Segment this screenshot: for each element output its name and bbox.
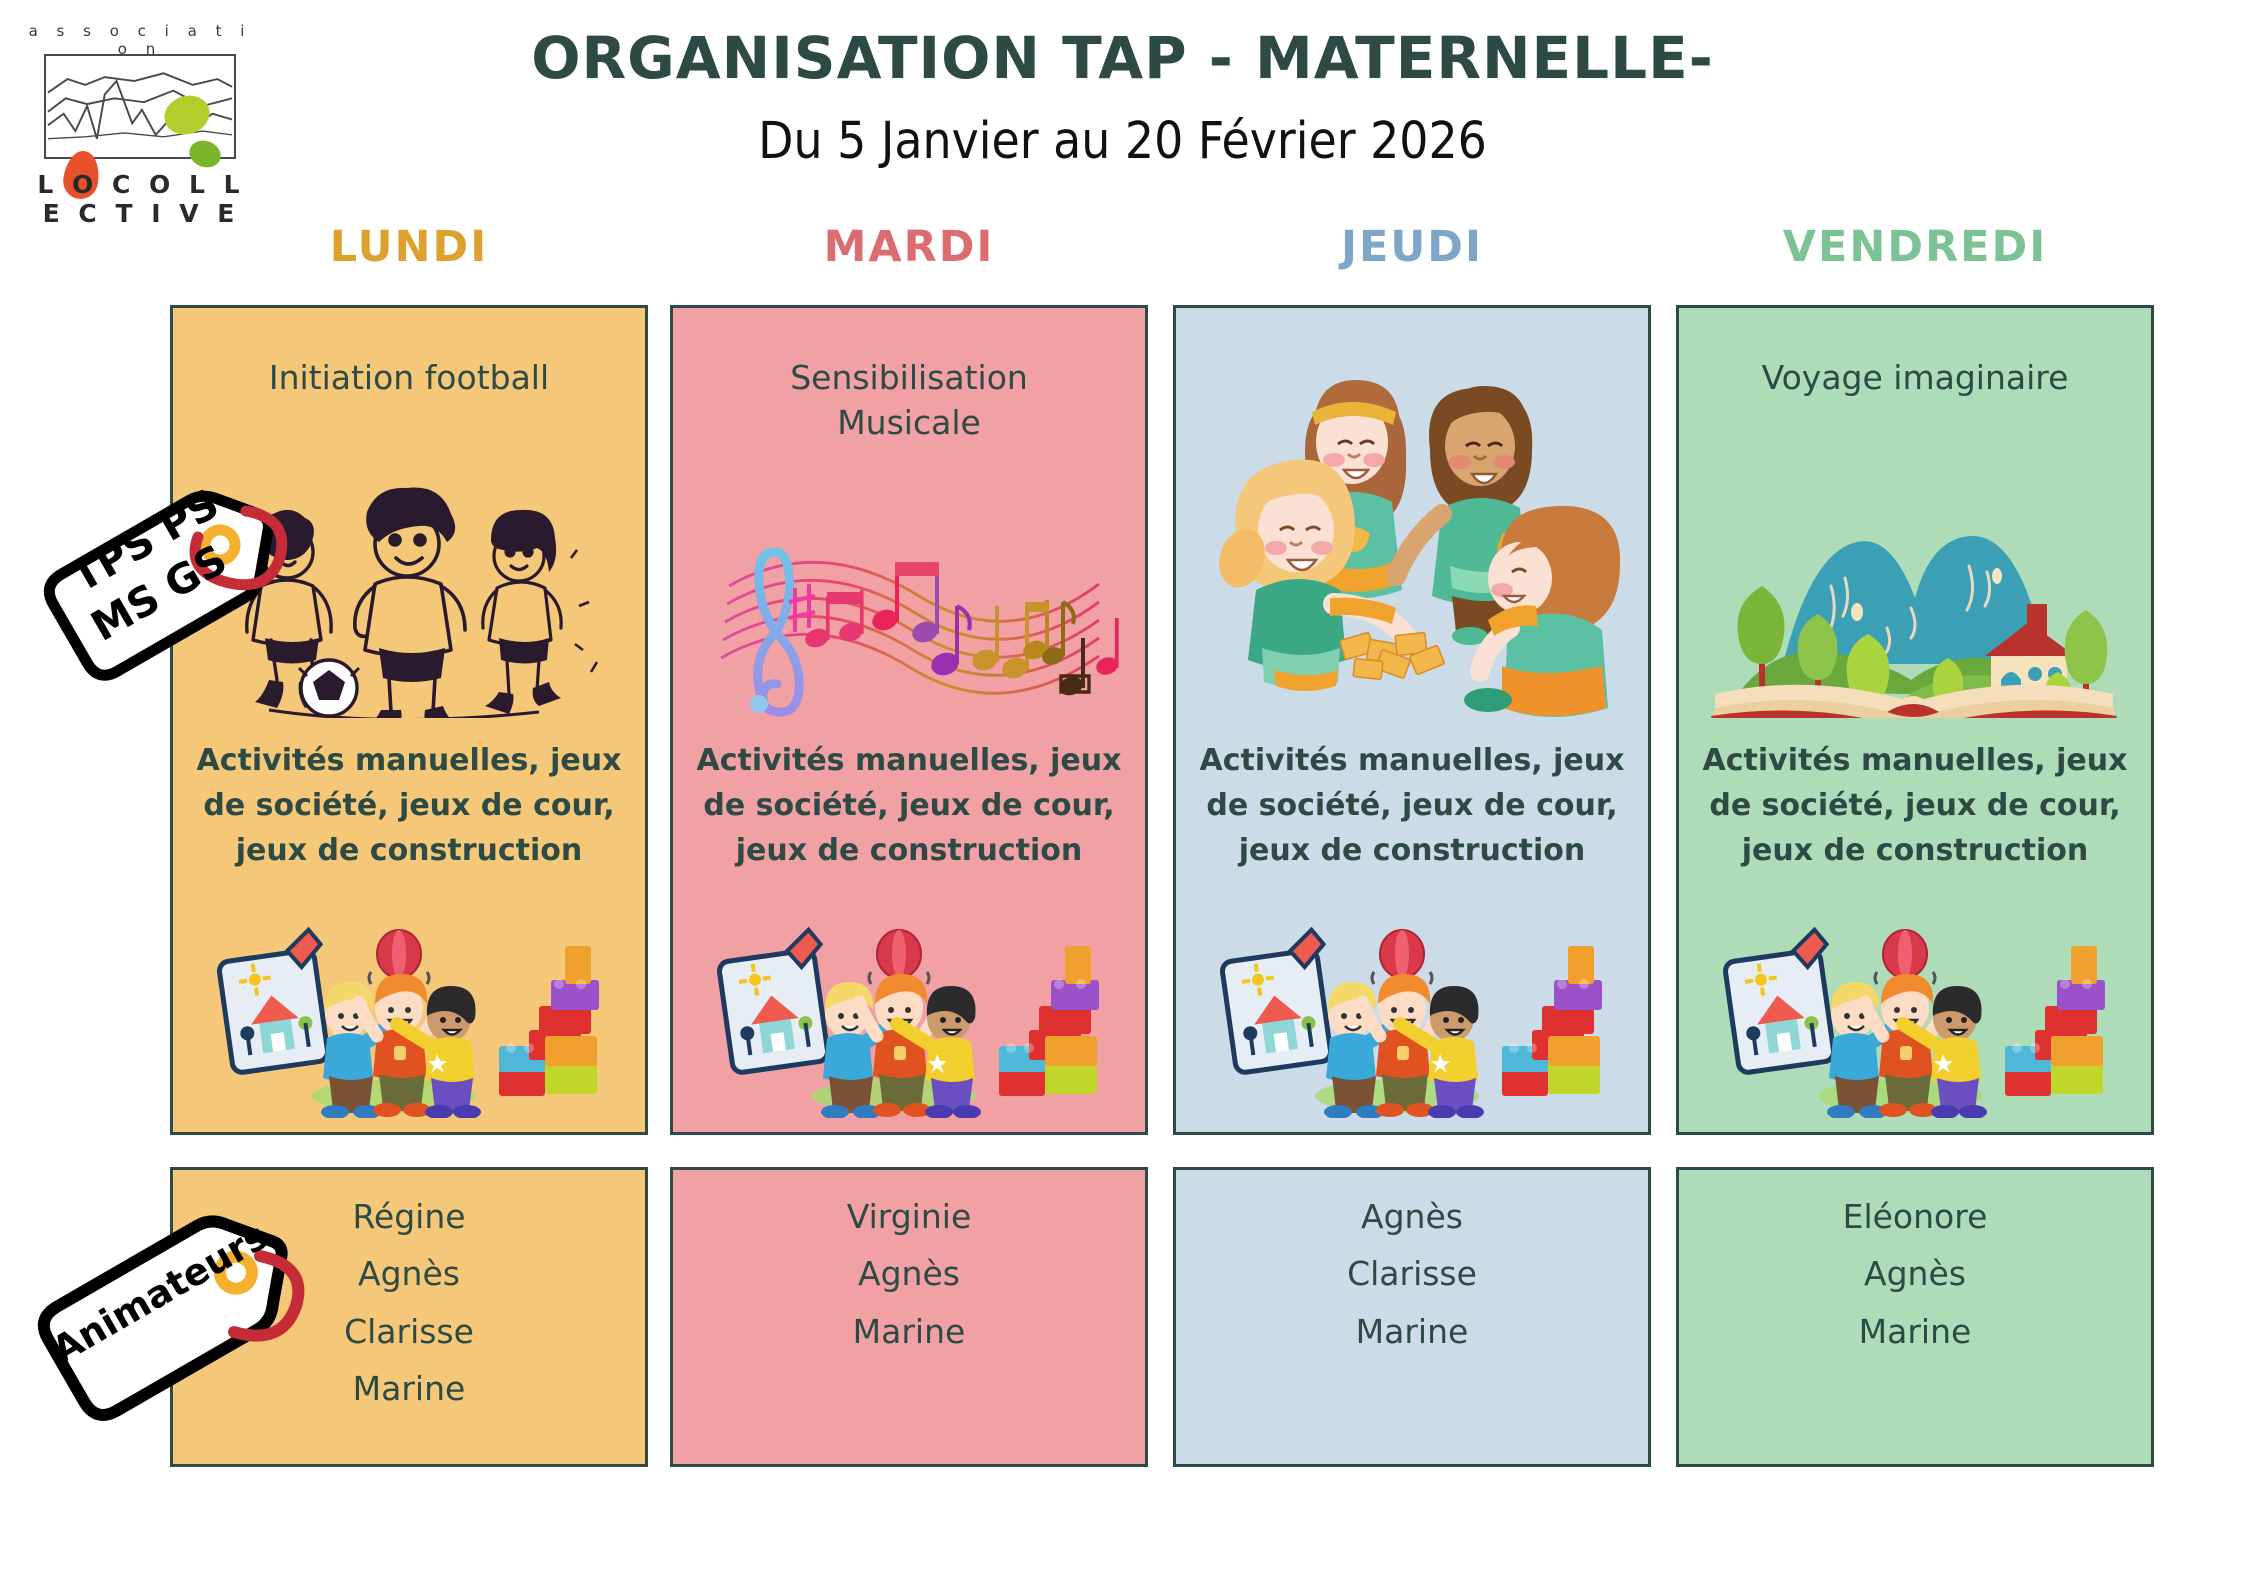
page-title: ORGANISATION TAP - MATERNELLE- <box>0 24 2245 92</box>
activity-description-lundi: Activités manuelles, jeux de société, je… <box>173 738 645 873</box>
levels-tag: TPS PS MS GS <box>10 455 310 735</box>
music-notes-icon <box>673 468 1145 718</box>
animator-name: Eléonore <box>1679 1188 2151 1245</box>
animators-tag: Animateurs <box>14 1168 314 1458</box>
kids-blocks-drawing-icon <box>1176 918 1648 1118</box>
day-header-lundi: LUNDI <box>170 222 648 272</box>
animators-list-mardi: Virginie Agnès Marine <box>673 1188 1145 1360</box>
animators-card-mardi[interactable]: Virginie Agnès Marine <box>670 1167 1148 1467</box>
kids-blocks-drawing-icon <box>173 918 645 1118</box>
animator-name: Clarisse <box>1176 1245 1648 1302</box>
activity-title-mardi: SensibilisationMusicale <box>673 356 1145 445</box>
activity-title-vendredi: Voyage imaginaire <box>1679 356 2151 401</box>
day-column-jeudi: Activités manuelles, jeux de société, je… <box>1173 305 1651 1470</box>
day-column-mardi: SensibilisationMusicale <box>670 305 1148 1470</box>
page-subtitle: Du 5 Janvier au 20 Février 2026 <box>0 112 2245 171</box>
animator-name: Marine <box>1679 1303 2151 1360</box>
activity-description-jeudi: Activités manuelles, jeux de société, je… <box>1176 738 1648 873</box>
activity-card-mardi[interactable]: SensibilisationMusicale <box>670 305 1148 1135</box>
animators-card-jeudi[interactable]: Agnès Clarisse Marine <box>1173 1167 1651 1467</box>
animators-card-vendredi[interactable]: Eléonore Agnès Marine <box>1676 1167 2154 1467</box>
animator-name: Marine <box>1176 1303 1648 1360</box>
activity-title-lundi: Initiation football <box>173 356 645 401</box>
animator-name: Agnès <box>673 1245 1145 1302</box>
poster-root: a s s o c i a t i o n L O C O L L E C T … <box>0 0 2245 1587</box>
day-header-jeudi: JEUDI <box>1173 222 1651 272</box>
day-header-vendredi: VENDREDI <box>1676 222 2154 272</box>
activity-description-mardi: Activités manuelles, jeux de société, je… <box>673 738 1145 873</box>
day-column-vendredi: Voyage imaginaire <box>1676 305 2154 1470</box>
animator-name: Agnès <box>1176 1188 1648 1245</box>
animator-name: Marine <box>673 1303 1145 1360</box>
open-book-landscape-icon <box>1679 458 2151 718</box>
activity-description-vendredi: Activités manuelles, jeux de société, je… <box>1679 738 2151 873</box>
day-headers-row: LUNDI MARDI JEUDI VENDREDI <box>0 222 2245 282</box>
animator-name: Agnès <box>1679 1245 2151 1302</box>
animators-list-vendredi: Eléonore Agnès Marine <box>1679 1188 2151 1360</box>
logo-name: L O C O L L E C T I V E <box>36 170 246 228</box>
children-playing-cards-icon <box>1176 318 1648 718</box>
kids-blocks-drawing-icon <box>673 918 1145 1118</box>
activity-card-vendredi[interactable]: Voyage imaginaire <box>1676 305 2154 1135</box>
animator-name: Virginie <box>673 1188 1145 1245</box>
animators-list-jeudi: Agnès Clarisse Marine <box>1176 1188 1648 1360</box>
kids-blocks-drawing-icon <box>1679 918 2151 1118</box>
activity-card-jeudi[interactable]: Activités manuelles, jeux de société, je… <box>1173 305 1651 1135</box>
day-header-mardi: MARDI <box>670 222 1148 272</box>
